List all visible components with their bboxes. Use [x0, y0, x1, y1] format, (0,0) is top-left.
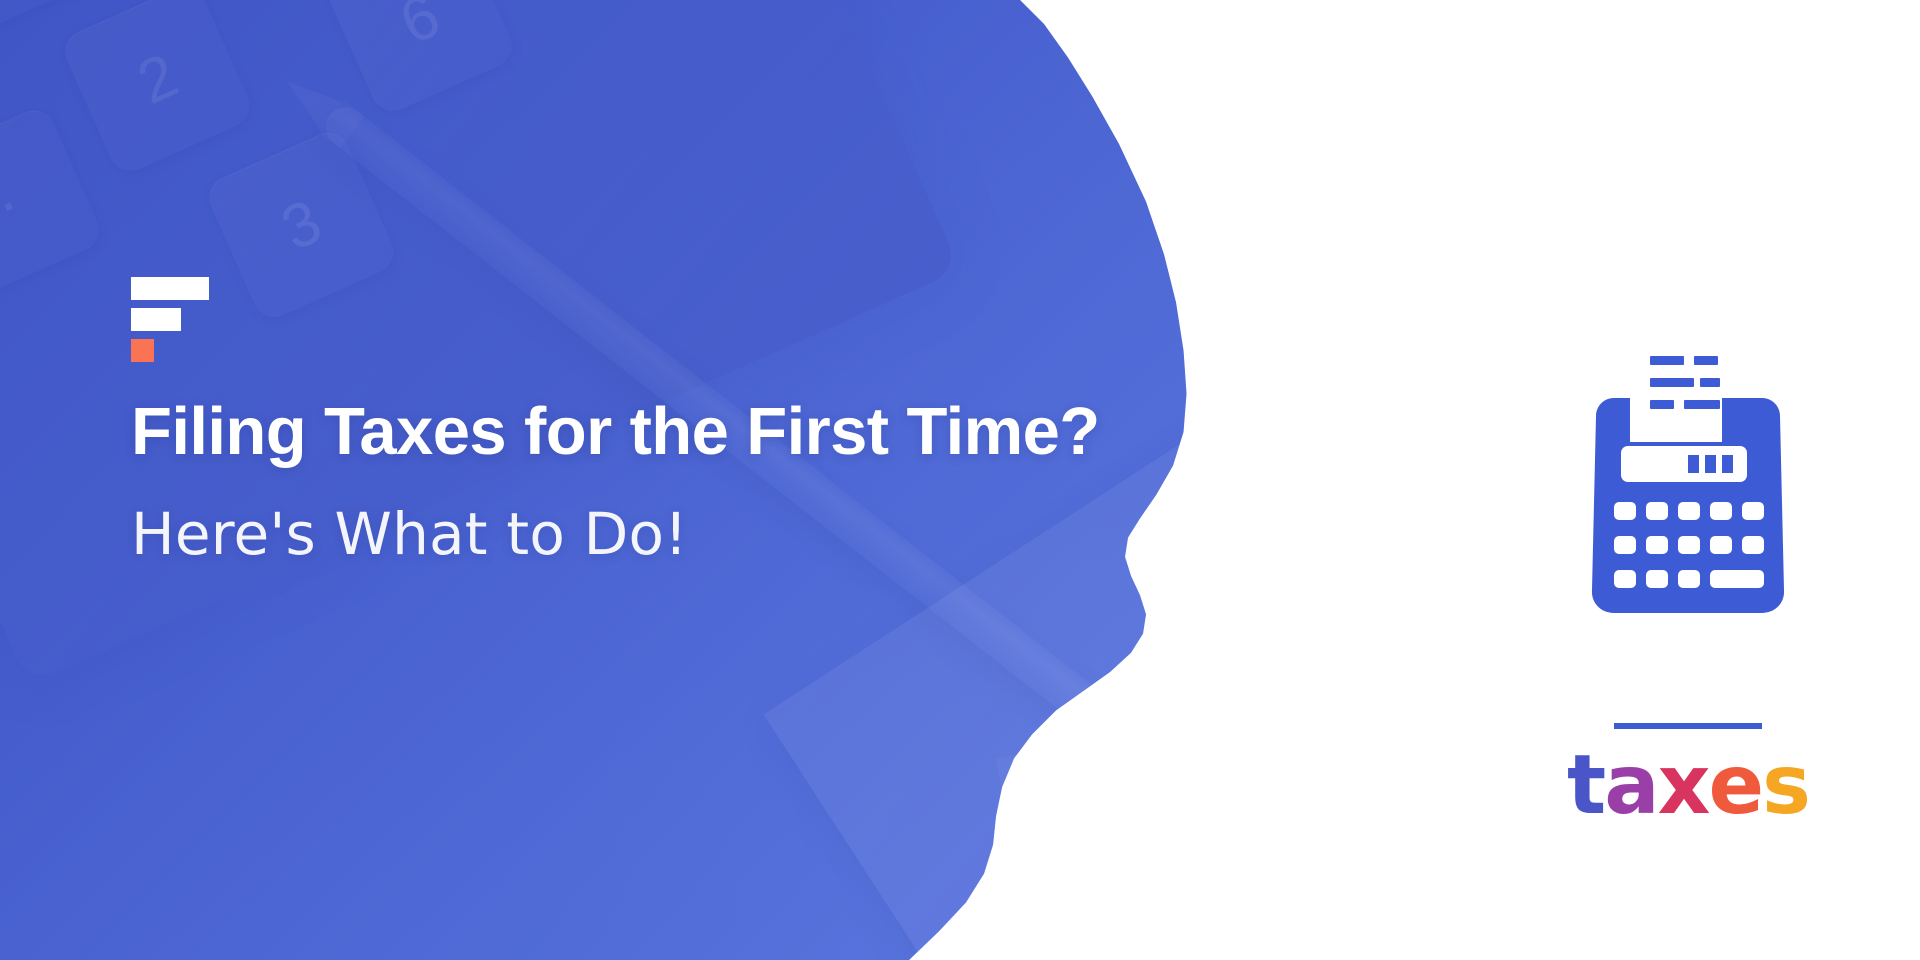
logo-bar-top [131, 277, 209, 300]
brand-wordmark-letter: a [1604, 745, 1657, 827]
logo-accent-square [131, 339, 154, 362]
banner-root: 01235689·%SET×÷TAX+TAX RATE Filing Taxes… [0, 0, 1920, 960]
brand-panel: taxes [1400, 0, 1920, 960]
page-subtitle: Here's What to Do! [131, 505, 1231, 563]
calculator-receipt-icon [1588, 310, 1788, 625]
brand-wordmark: taxes [1567, 745, 1809, 827]
logo-bar-middle [131, 308, 181, 331]
brand-divider [1614, 723, 1762, 729]
brand-wordmark-letter: x [1658, 745, 1709, 827]
brand-wordmark-letter: e [1709, 745, 1763, 827]
page-title: Filing Taxes for the First Time? [131, 398, 1231, 465]
photo-blue-tint-overlay [0, 0, 1500, 960]
f-logo-mark[interactable] [131, 277, 227, 359]
brand-wordmark-letter: s [1762, 745, 1809, 827]
brand-wordmark-letter: t [1567, 745, 1604, 827]
hero-photo-panel: 01235689·%SET×÷TAX+TAX RATE Filing Taxes… [0, 0, 1500, 960]
